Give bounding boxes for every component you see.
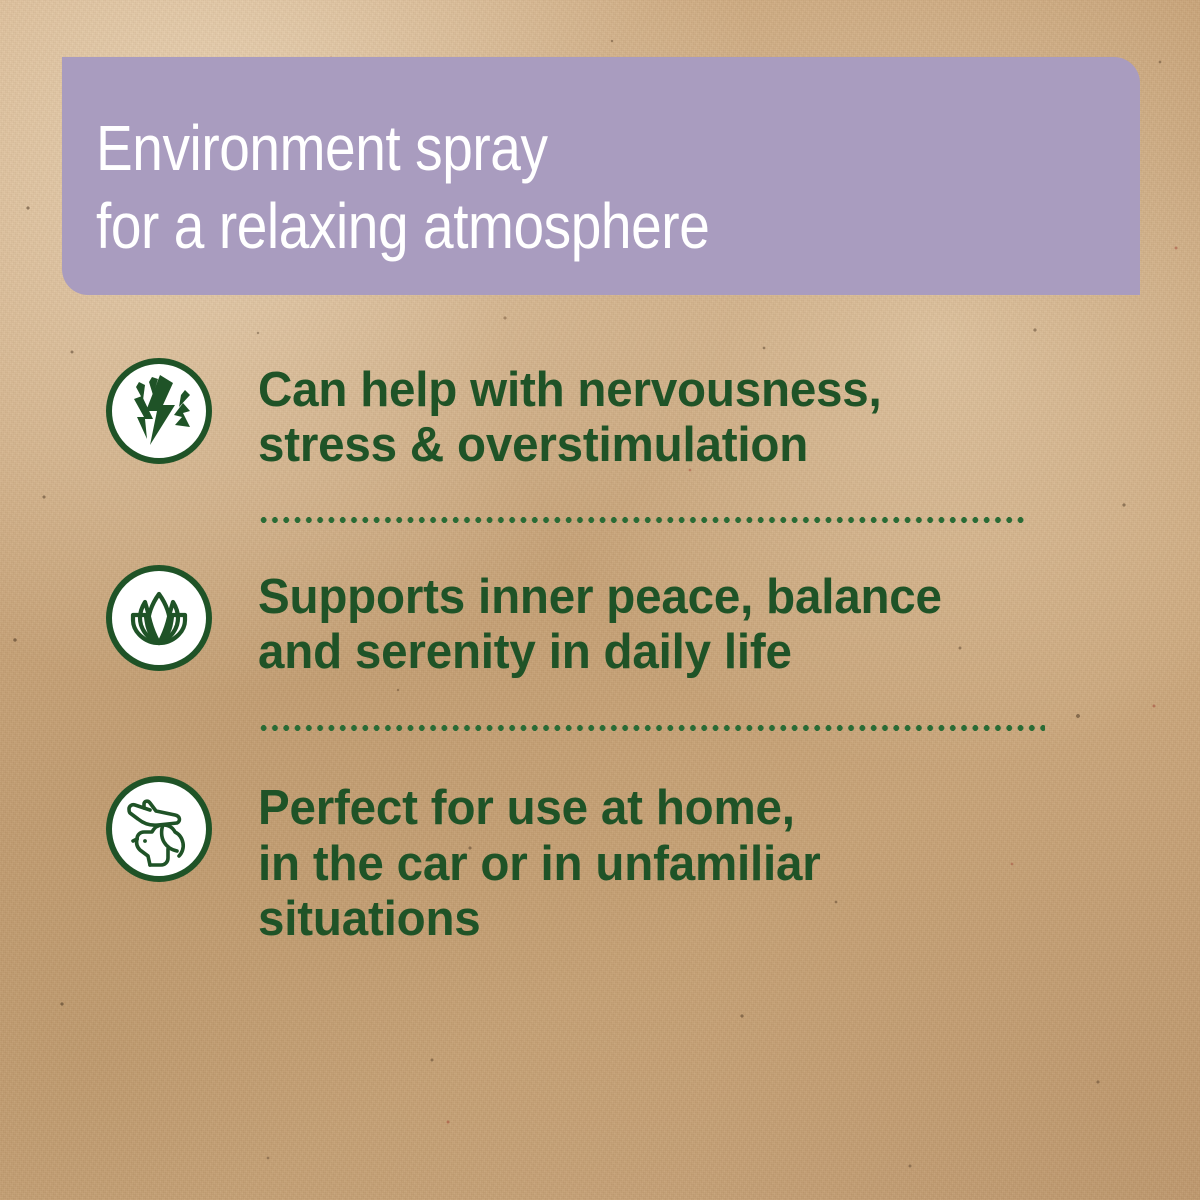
feature-text: Supports inner peace, balance and sereni… — [258, 562, 942, 681]
feature-text-line: Perfect for use at home, — [258, 781, 821, 836]
dotted-divider — [258, 517, 1024, 523]
lotus-flower-icon — [103, 562, 215, 674]
feature-text-line: in the car or in unfamiliar — [258, 837, 821, 892]
hand-petting-dog-icon — [103, 773, 215, 885]
header-banner: Environment spray for a relaxing atmosph… — [62, 57, 1140, 295]
feature-text-line: stress & overstimulation — [258, 418, 882, 473]
feature-text: Can help with nervousness, stress & over… — [258, 355, 882, 474]
lightning-stress-icon — [103, 355, 215, 467]
feature-text: Perfect for use at home, in the car or i… — [258, 773, 821, 947]
feature-row: Perfect for use at home, in the car or i… — [0, 773, 1200, 947]
feature-row: Supports inner peace, balance and sereni… — [0, 562, 1200, 681]
infographic-card: Environment spray for a relaxing atmosph… — [0, 0, 1200, 1200]
feature-text-line: Supports inner peace, balance — [258, 570, 942, 625]
page-title-line-1: Environment spray — [96, 109, 994, 187]
feature-text-line: Can help with nervousness, — [258, 363, 882, 418]
dotted-divider — [258, 725, 1045, 731]
feature-text-line: situations — [258, 892, 821, 947]
page-title-line-2: for a relaxing atmosphere — [96, 187, 994, 265]
feature-text-line: and serenity in daily life — [258, 625, 942, 680]
feature-list: Can help with nervousness, stress & over… — [0, 355, 1200, 948]
page-title: Environment spray for a relaxing atmosph… — [96, 109, 994, 265]
feature-row: Can help with nervousness, stress & over… — [0, 355, 1200, 474]
